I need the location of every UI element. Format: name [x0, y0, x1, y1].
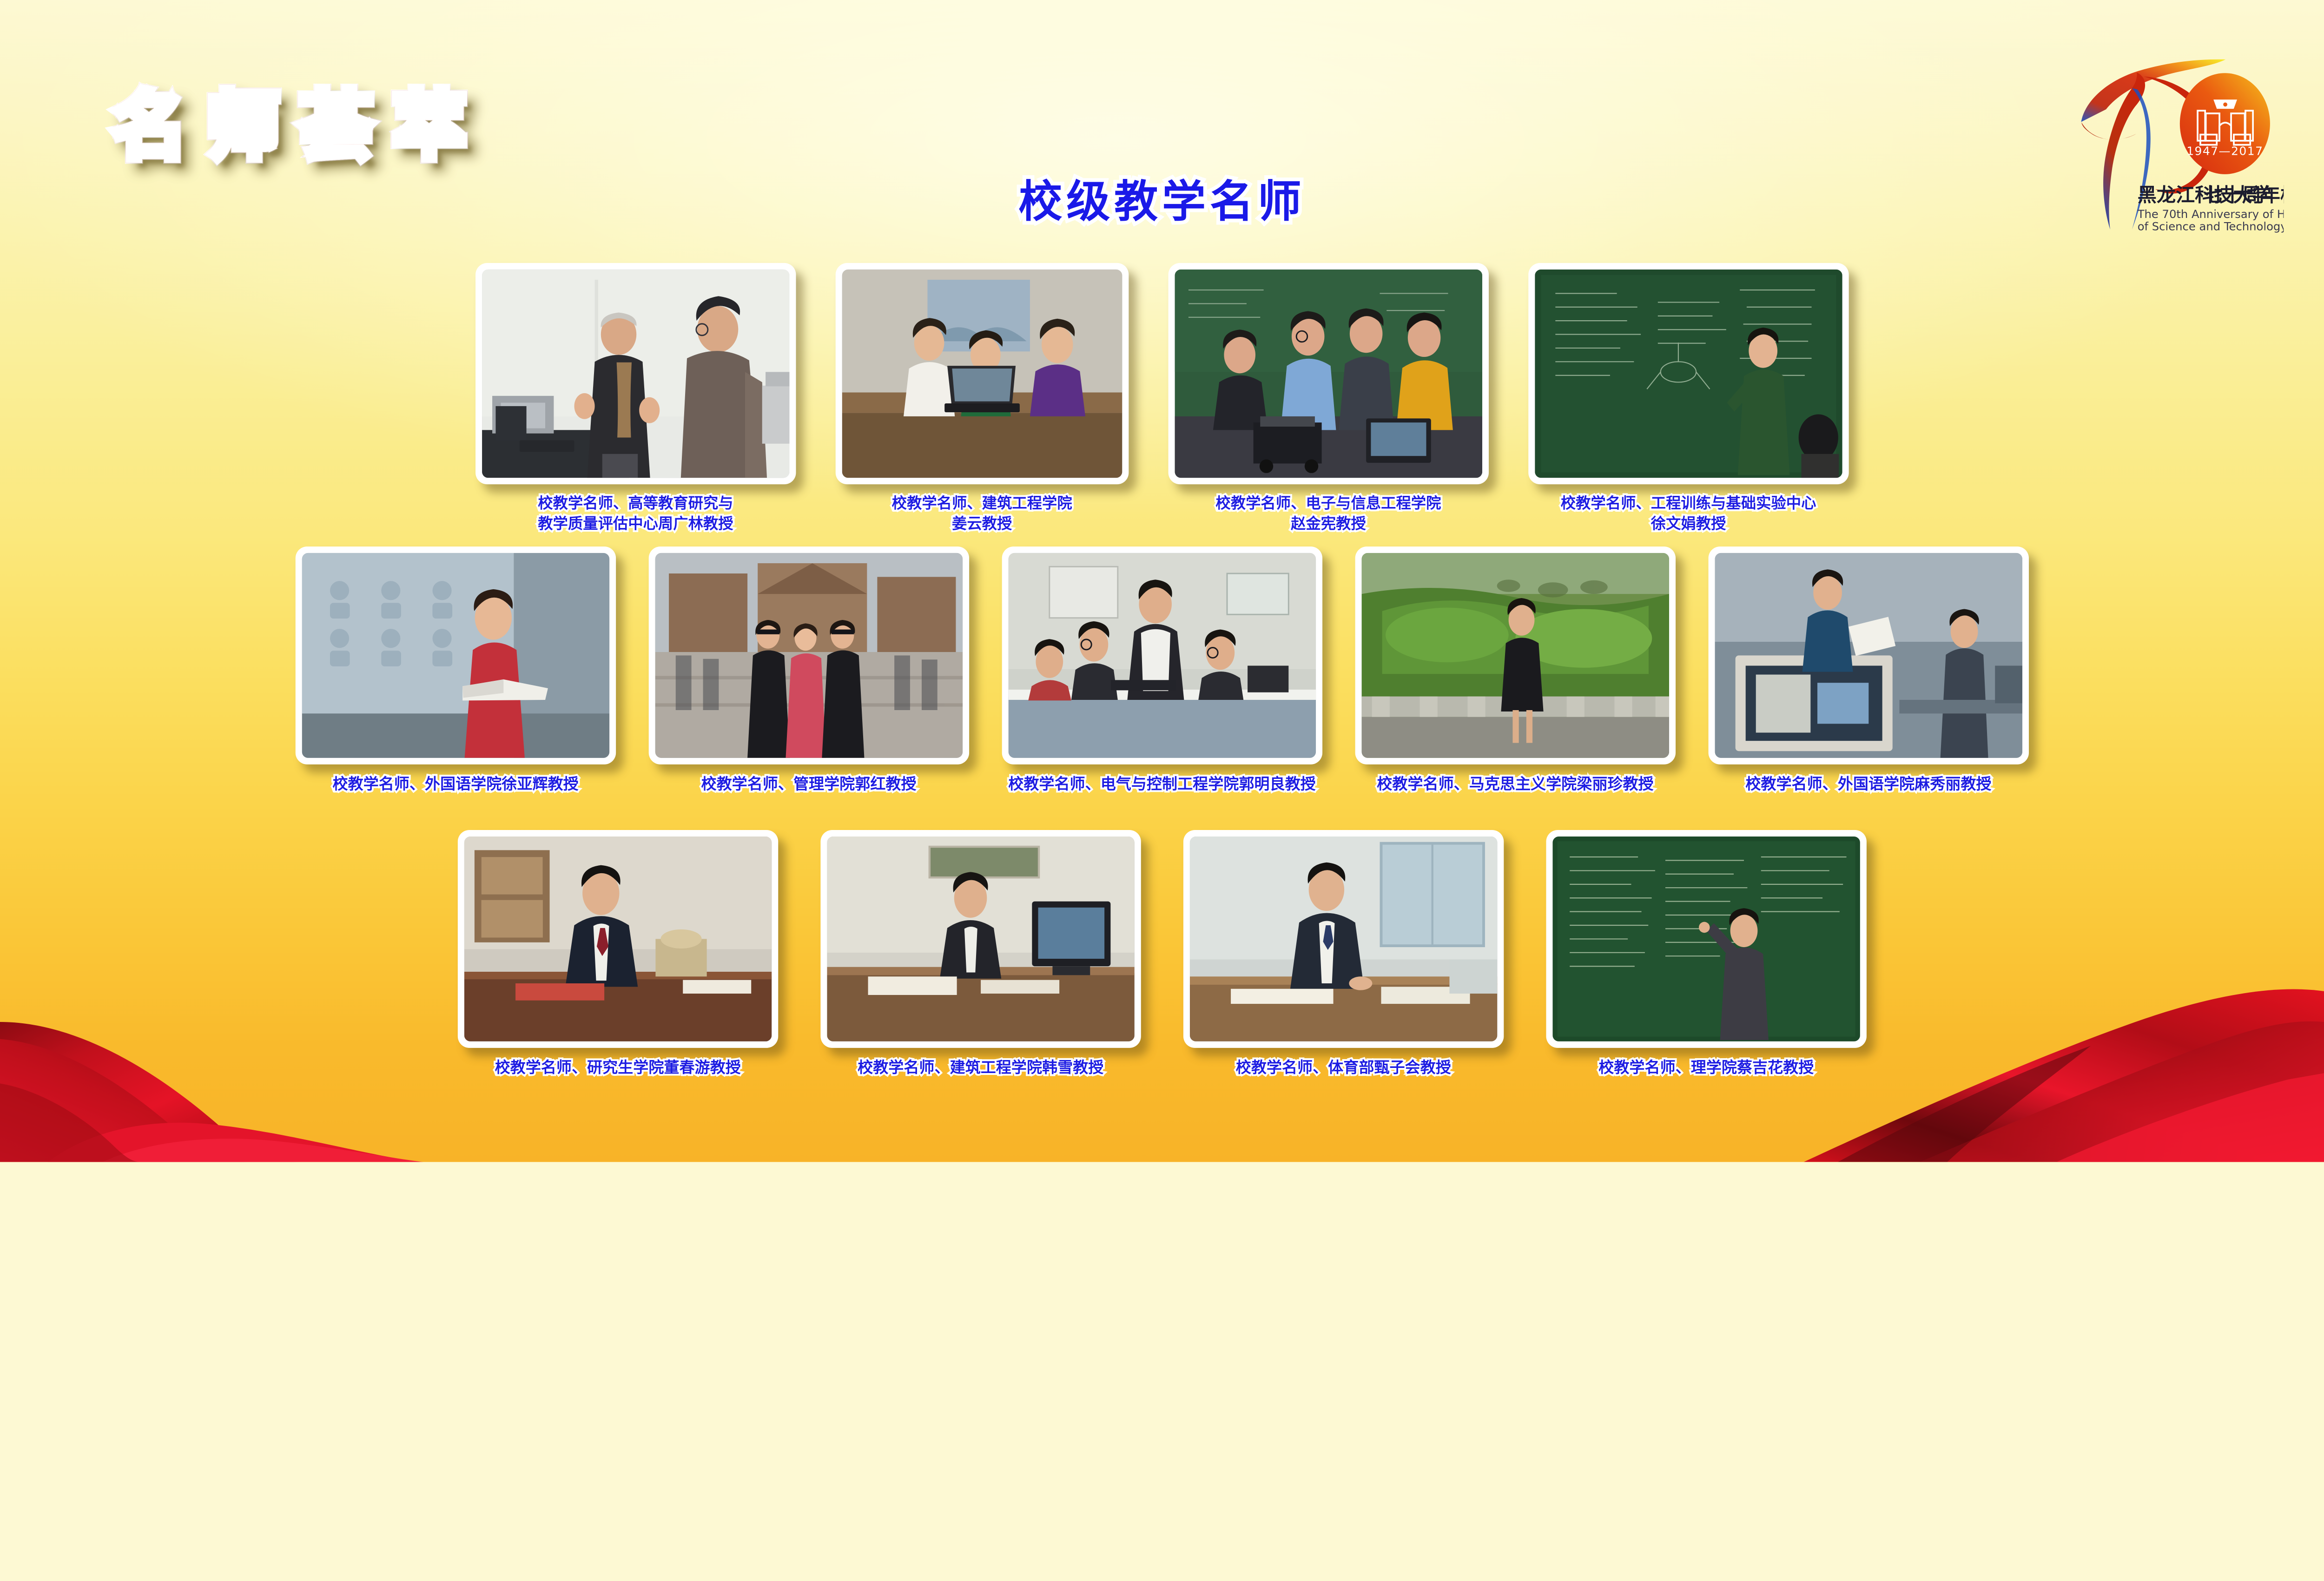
teacher-caption: 校教学名师、马克思主义学院梁丽珍教授 — [1377, 773, 1653, 794]
section-subtitle: 校级教学名师 — [0, 166, 2324, 229]
logo-chinese-anniversary: 七十周年校庆 — [2204, 184, 2284, 206]
photo-frame — [648, 547, 969, 764]
teacher-card[interactable]: 校教学名师、建筑工程学院韩雪教授 — [820, 830, 1141, 1078]
teacher-caption: 校教学名师、外国语学院麻秀丽教授 — [1745, 773, 1991, 794]
photo-frame — [1708, 547, 2028, 764]
teacher-caption: 校教学名师、建筑工程学院韩雪教授 — [858, 1057, 1103, 1078]
teacher-caption: 校教学名师、研究生学院董春游教授 — [495, 1057, 741, 1078]
photo-row-2: 校教学名师、外国语学院徐亚辉教授 — [0, 547, 2324, 794]
teacher-photo — [464, 837, 771, 1041]
teacher-card[interactable]: 校教学名师、外国语学院麻秀丽教授 — [1708, 547, 2028, 794]
teacher-photo — [1535, 270, 1842, 478]
teacher-caption: 校教学名师、建筑工程学院 姜云教授 — [892, 493, 1072, 534]
teacher-card[interactable]: 校教学名师、建筑工程学院 姜云教授 — [835, 263, 1129, 534]
logo-english-line-1: The 70th Anniversary of Heilongjiang Uni… — [2137, 207, 2284, 221]
teacher-photo — [1008, 553, 1315, 758]
teacher-card[interactable]: 校教学名师、体育部甄子会教授 — [1183, 830, 1504, 1078]
photo-frame — [1002, 547, 1322, 764]
teacher-caption: 校教学名师、理学院蔡吉花教授 — [1598, 1057, 1814, 1078]
logo-english-line-2: of Science and Technology — [2138, 219, 2284, 233]
photo-frame — [835, 263, 1129, 484]
teacher-caption: 校教学名师、工程训练与基础实验中心 徐文娟教授 — [1561, 493, 1816, 534]
teacher-card[interactable]: 校教学名师、电子与信息工程学院 赵金宪教授 — [1168, 263, 1488, 534]
teacher-caption: 校教学名师、管理学院郭红教授 — [701, 773, 917, 794]
logo-blob — [2180, 73, 2270, 174]
teacher-card[interactable]: 校教学名师、研究生学院董春游教授 — [457, 830, 778, 1078]
teacher-card[interactable]: 校教学名师、管理学院郭红教授 — [648, 547, 969, 794]
teacher-photo — [1175, 270, 1482, 478]
teacher-photo — [1361, 553, 1669, 758]
photo-frame — [1355, 547, 1675, 764]
teacher-photo — [1190, 837, 1497, 1041]
teacher-card[interactable]: 校教学名师、外国语学院徐亚辉教授 — [295, 547, 615, 794]
teacher-photo — [842, 270, 1122, 478]
teacher-photo — [482, 270, 789, 478]
teacher-photo — [1552, 837, 1860, 1041]
photo-frame — [1528, 263, 1849, 484]
teacher-photo — [1715, 553, 2022, 758]
teacher-card[interactable]: 校教学名师、理学院蔡吉花教授 — [1546, 830, 1866, 1078]
photo-frame — [457, 830, 778, 1048]
photo-row-3: 校教学名师、研究生学院董春游教授 — [0, 830, 2324, 1078]
teacher-card[interactable]: 校教学名师、高等教育研究与 教学质量评估中心周广林教授 — [475, 263, 796, 534]
page-title: 名师荟萃 — [113, 66, 486, 173]
photo-frame — [1183, 830, 1504, 1048]
teacher-photo — [827, 837, 1134, 1041]
teacher-photo — [302, 553, 609, 758]
photo-frame — [1546, 830, 1866, 1048]
logo-years: 1947—2017 — [2186, 145, 2263, 158]
photo-frame — [820, 830, 1141, 1048]
teacher-caption: 校教学名师、体育部甄子会教授 — [1236, 1057, 1451, 1078]
teacher-card[interactable]: 校教学名师、电气与控制工程学院郭明良教授 — [1002, 547, 1322, 794]
teacher-caption: 校教学名师、高等教育研究与 教学质量评估中心周广林教授 — [538, 493, 733, 534]
anniversary-logo: 1947—2017 黑龙江科技大学 七十周年校庆 The 70th Annive… — [2065, 21, 2284, 233]
teacher-caption: 校教学名师、电气与控制工程学院郭明良教授 — [1008, 773, 1315, 794]
photo-frame — [1168, 263, 1488, 484]
teacher-card[interactable]: 校教学名师、工程训练与基础实验中心 徐文娟教授 — [1528, 263, 1849, 534]
photo-frame — [295, 547, 615, 764]
teacher-card[interactable]: 校教学名师、马克思主义学院梁丽珍教授 — [1355, 547, 1675, 794]
poster-canvas: 名师荟萃 名师荟萃 校级教学名师 — [0, 0, 2324, 1162]
teacher-caption: 校教学名师、电子与信息工程学院 赵金宪教授 — [1215, 493, 1441, 534]
photo-row-1: 校教学名师、高等教育研究与 教学质量评估中心周广林教授 — [0, 263, 2324, 534]
logo-swoosh-lower — [2081, 122, 2136, 139]
teacher-photo — [655, 553, 962, 758]
teacher-caption: 校教学名师、外国语学院徐亚辉教授 — [332, 773, 578, 794]
photo-frame — [475, 263, 796, 484]
